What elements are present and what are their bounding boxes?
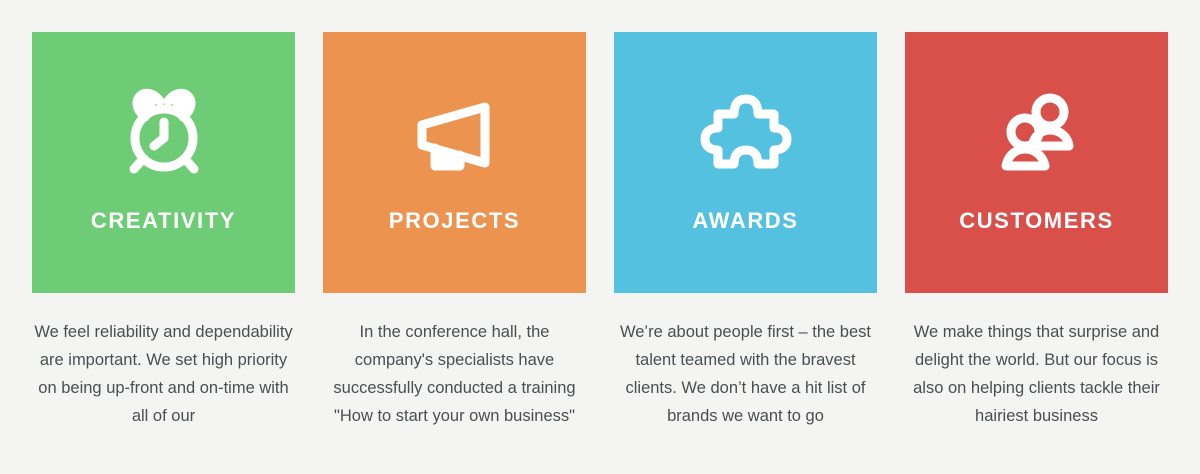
megaphone-icon [405, 84, 505, 184]
feature-card-awards[interactable]: AWARDS [614, 32, 877, 293]
feature-card-projects[interactable]: PROJECTS [323, 32, 586, 293]
people-group-icon [987, 84, 1087, 184]
feature-card-creativity[interactable]: CREATIVITY [32, 32, 295, 293]
feature-card-customers[interactable]: CUSTOMERS [905, 32, 1168, 293]
feature-descriptions-row: We feel reliability and dependability ar… [32, 318, 1168, 430]
card-title: CREATIVITY [91, 208, 236, 234]
feature-description-awards: We’re about people first – the best tale… [614, 318, 877, 430]
feature-description-projects: In the conference hall, the company's sp… [323, 318, 586, 430]
puzzle-piece-icon [696, 84, 796, 184]
alarm-clock-icon [114, 84, 214, 184]
card-title: AWARDS [692, 208, 798, 234]
feature-description-customers: We make things that surprise and delight… [905, 318, 1168, 430]
card-title: PROJECTS [389, 208, 520, 234]
feature-cards-row: CREATIVITY PROJECTS [32, 32, 1168, 293]
features-section: CREATIVITY PROJECTS [0, 0, 1200, 474]
card-title: CUSTOMERS [959, 208, 1114, 234]
feature-description-creativity: We feel reliability and dependability ar… [32, 318, 295, 430]
